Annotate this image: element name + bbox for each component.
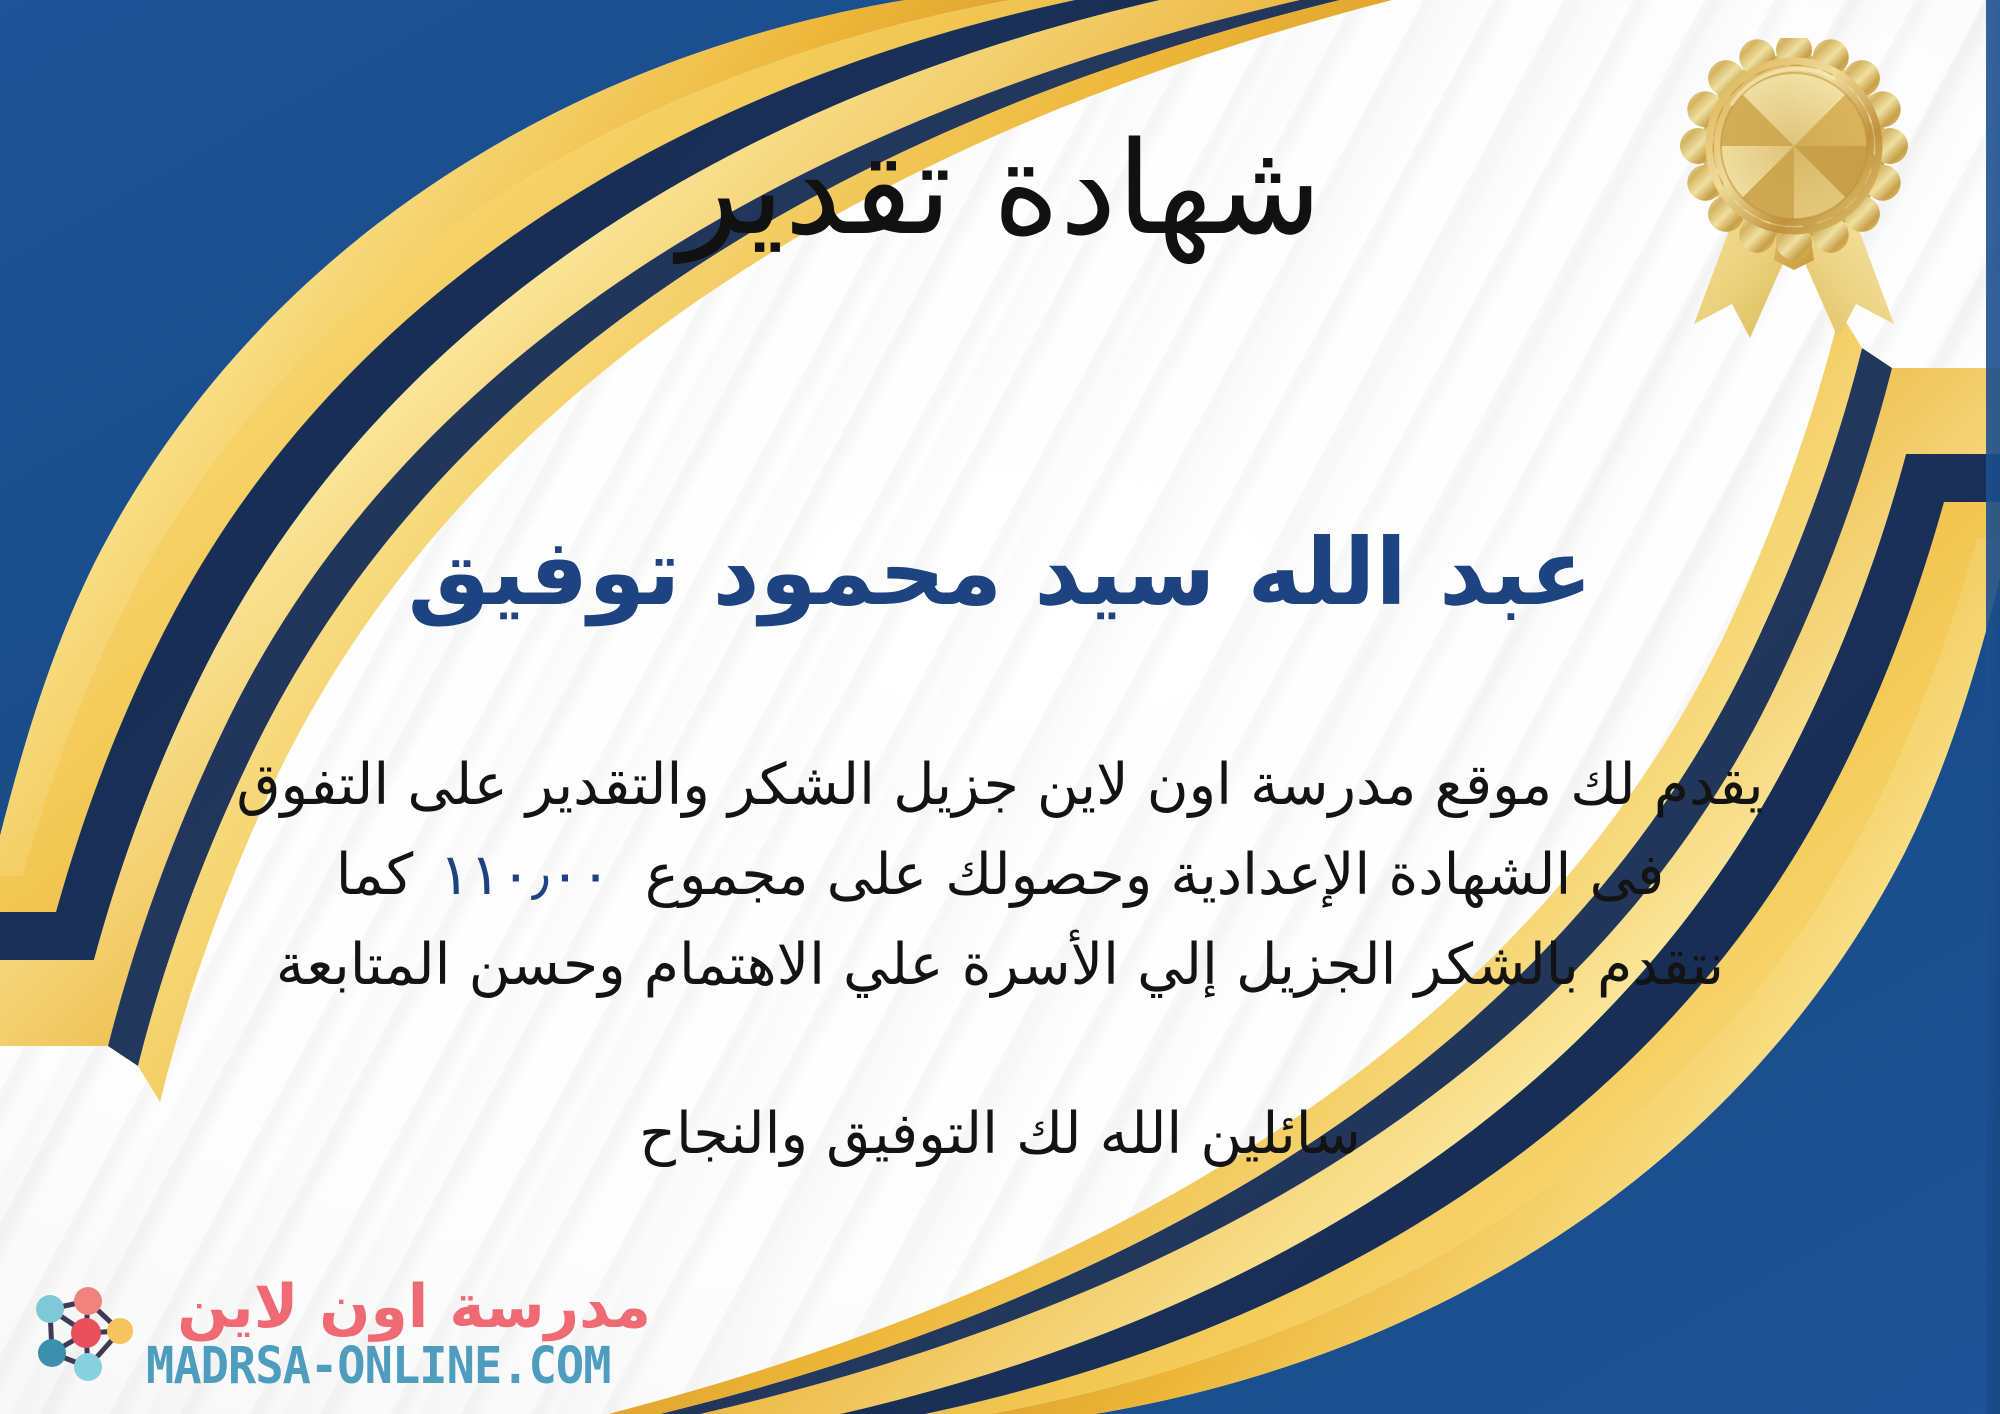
body-line-2-suffix: كما	[336, 842, 413, 908]
gold-rosette-medal-icon	[1676, 38, 1912, 338]
certificate-body: يقدم لك موقع مدرسة اون لاين جزيل الشكر و…	[60, 740, 1940, 1010]
grade-total-value: ١١٠٫٠٠	[413, 842, 645, 908]
body-line-2-prefix: فى الشهادة الإعدادية وحصولك على مجموع	[645, 842, 1664, 908]
network-nodes-icon	[28, 1279, 140, 1391]
body-line-3: نتقدم بالشكر الجزيل إلي الأسرة علي الاهت…	[60, 920, 1940, 1010]
certificate-page: شهادة تقدير عبد الله سيد محمود توفيق يقد…	[0, 0, 2000, 1414]
logo-domain: MADRSA-ONLINE.COM	[146, 1341, 611, 1392]
body-line-1: يقدم لك موقع مدرسة اون لاين جزيل الشكر و…	[60, 740, 1940, 830]
logo-arabic-name: مدرسة اون لاين	[177, 1277, 651, 1337]
logo-text-block: مدرسة اون لاين MADRSA-ONLINE.COM	[146, 1277, 651, 1392]
body-line-2: فى الشهادة الإعدادية وحصولك على مجموع١١٠…	[60, 830, 1940, 920]
recipient-name: عبد الله سيد محمود توفيق	[0, 520, 2000, 626]
closing-blessing-line: سائلين الله لك التوفيق والنجاح	[0, 1095, 2000, 1175]
madrsa-online-logo[interactable]: مدرسة اون لاين MADRSA-ONLINE.COM	[28, 1277, 651, 1392]
